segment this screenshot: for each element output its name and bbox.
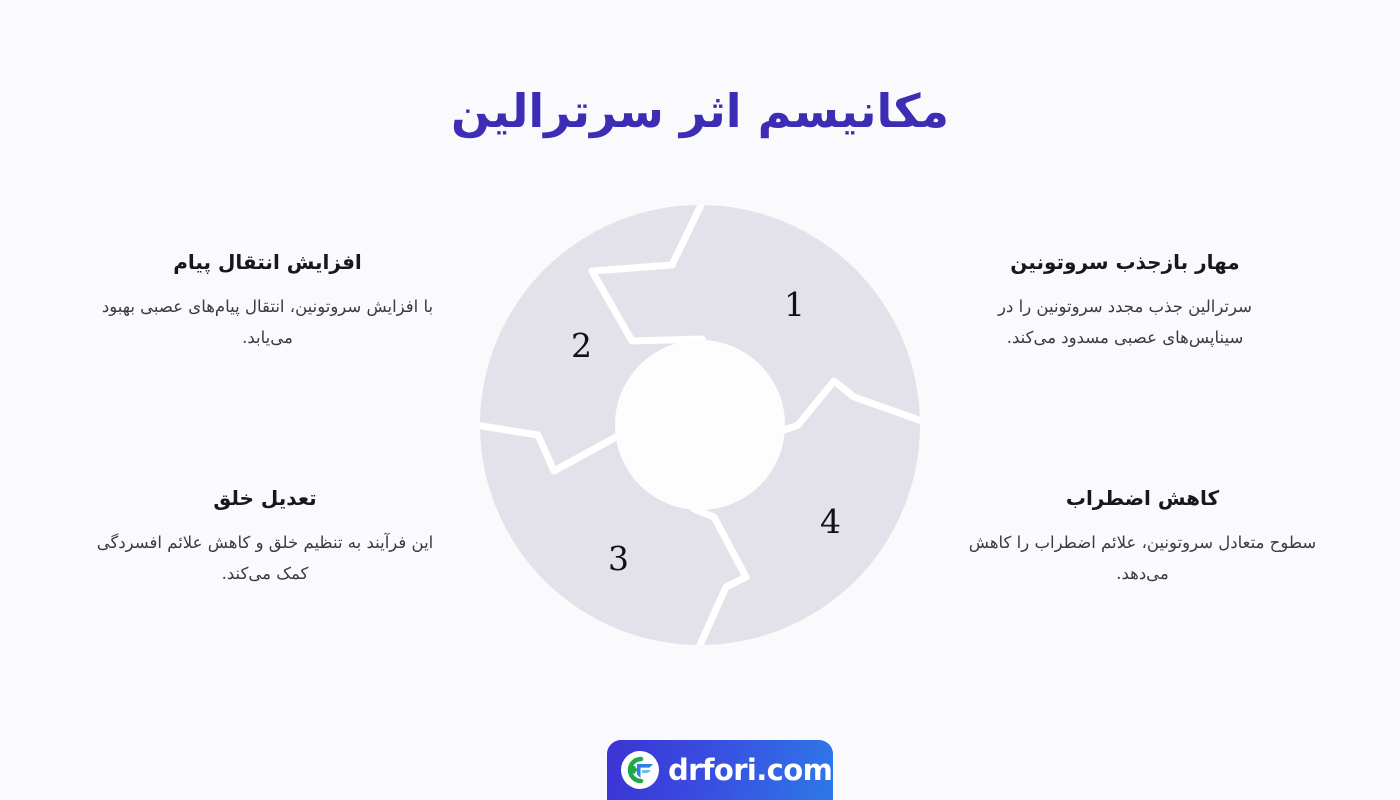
segment-number-1: 1: [784, 288, 805, 321]
segment-number-4: 4: [820, 505, 841, 538]
step-block-bottom-left: تعدیل خلق این فرآیند به تنظیم خلق و کاهش…: [95, 484, 435, 589]
step-title-2: افزایش انتقال پیام: [75, 248, 460, 276]
segment-number-3: 3: [608, 542, 629, 575]
step-body-3: این فرآیند به تنظیم خلق و کاهش علائم افس…: [95, 528, 435, 589]
step-block-top-right: مهار بازجذب سروتونین سرترالین جذب مجدد س…: [960, 248, 1290, 353]
drfori-mark-svg: [624, 754, 656, 786]
step-block-bottom-right: کاهش اضطراب سطوح متعادل سروتونین، علائم …: [950, 484, 1335, 589]
donut-center-hole: [615, 340, 785, 510]
step-title-4: کاهش اضطراب: [950, 484, 1335, 512]
step-block-top-left: افزایش انتقال پیام با افزایش سروتونین، ا…: [75, 248, 460, 353]
step-title-1: مهار بازجذب سروتونین: [960, 248, 1290, 276]
step-title-3: تعدیل خلق: [95, 484, 435, 512]
drfori-logo-icon: [621, 751, 659, 789]
cycle-diagram: 1 2 3 4: [480, 205, 920, 645]
segment-number-2: 2: [571, 329, 592, 362]
step-body-4: سطوح متعادل سروتونین، علائم اضطراب را کا…: [950, 528, 1335, 589]
site-logo-text: drfori.com: [668, 756, 832, 785]
site-logo-badge[interactable]: drfori.com: [607, 740, 833, 800]
step-body-2: با افزایش سروتونین، انتقال پیام‌های عصبی…: [75, 292, 460, 353]
step-body-1: سرترالین جذب مجدد سروتونین را در سیناپس‌…: [960, 292, 1290, 353]
page-title: مکانیسم اثر سرترالین: [0, 83, 1400, 141]
donut-chart-svg: [480, 205, 920, 645]
